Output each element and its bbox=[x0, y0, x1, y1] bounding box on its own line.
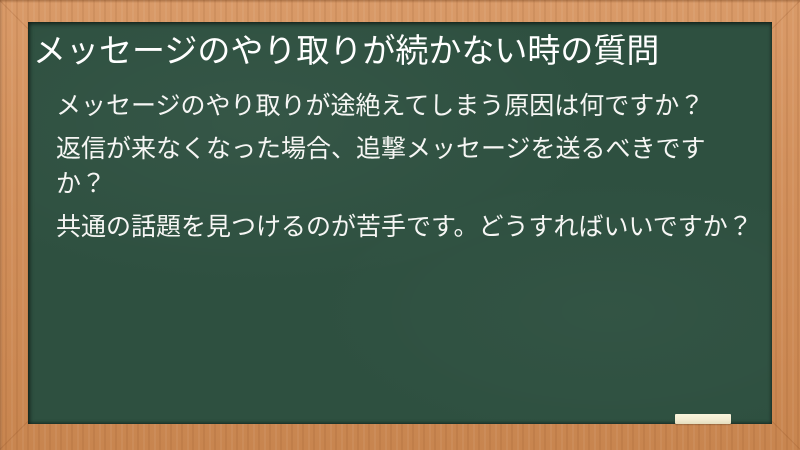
frame-left-shadow bbox=[0, 0, 3, 450]
frame-miter-bottom-left bbox=[0, 421, 28, 450]
blackboard-content: メッセージのやり取りが続かない時の質問 メッセージのやり取りが途絶えてしまう原因… bbox=[28, 22, 772, 424]
frame-miter-top-right bbox=[772, 0, 800, 29]
chalk-stick bbox=[675, 414, 731, 424]
list-item: メッセージのやり取りが途絶えてしまう原因は何ですか？ bbox=[32, 89, 758, 125]
list-item: 返信が来なくなった場合、追撃メッセージを送るべきですか？ bbox=[32, 132, 758, 203]
question-list: メッセージのやり取りが途絶えてしまう原因は何ですか？ 返信が来なくなった場合、追… bbox=[32, 89, 758, 245]
blackboard-slide: メッセージのやり取りが続かない時の質問 メッセージのやり取りが途絶えてしまう原因… bbox=[0, 0, 800, 450]
frame-top-shadow bbox=[0, 0, 800, 3]
frame-miter-top-left bbox=[0, 0, 28, 29]
list-item: 共通の話題を見つけるのが苦手です。どうすればいいですか？ bbox=[32, 210, 758, 246]
blackboard-surface: メッセージのやり取りが続かない時の質問 メッセージのやり取りが途絶えてしまう原因… bbox=[28, 22, 772, 424]
page-title: メッセージのやり取りが続かない時の質問 bbox=[32, 28, 758, 73]
frame-miter-bottom-right bbox=[772, 421, 800, 450]
